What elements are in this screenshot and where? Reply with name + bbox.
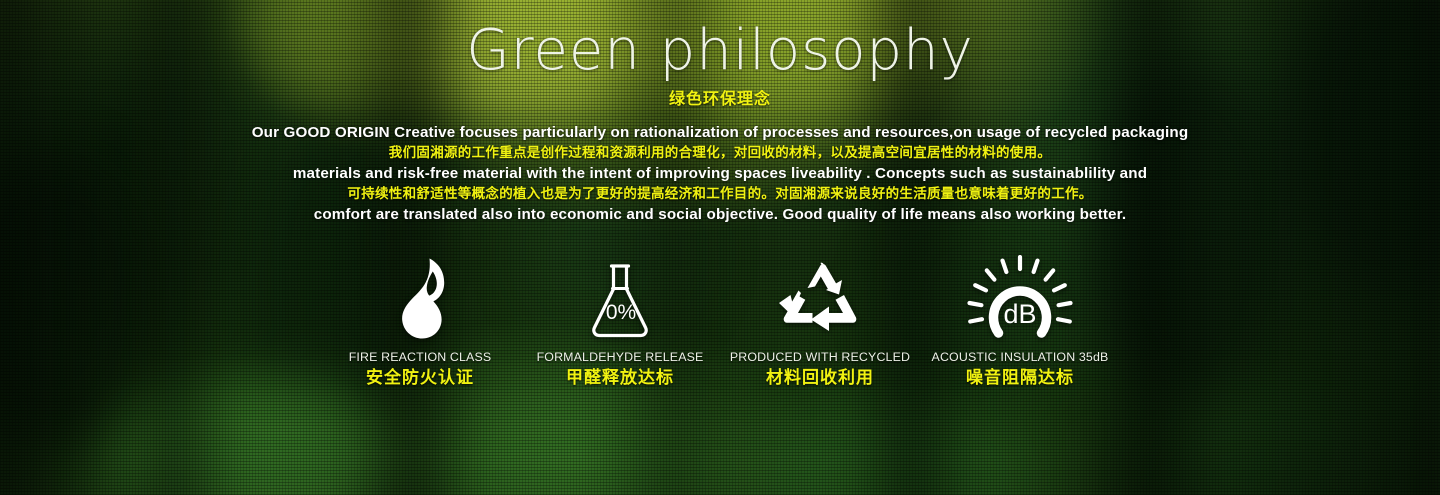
paragraph-line-en-1: Our GOOD ORIGIN Creative focuses particu… [100, 122, 1340, 143]
flask-icon: 0% [582, 255, 658, 341]
green-philosophy-banner: Green philosophy 绿色环保理念 Our GOOD ORIGIN … [0, 0, 1440, 495]
decibel-value-text: dB [1003, 299, 1036, 329]
paragraph-line-cn-2: 可持续性和舒适性等概念的植入也是为了更好的提高经济和工作目的。对固湘源来说良好的… [100, 184, 1340, 204]
feature-fire-reaction: FIRE REACTION CLASS 安全防火认证 [320, 255, 520, 389]
feature-label-cn: 材料回收利用 [766, 367, 874, 389]
paragraph-line-cn-1: 我们固湘源的工作重点是创作过程和资源利用的合理化，对回收的材料，以及提高空间宜居… [100, 143, 1340, 163]
feature-label-cn: 安全防火认证 [366, 367, 474, 389]
page-subtitle: 绿色环保理念 [0, 90, 1440, 110]
decibel-icon: dB [965, 255, 1075, 341]
page-title: Green philosophy [0, 0, 1440, 84]
feature-label-cn: 噪音阻隔达标 [966, 367, 1074, 389]
feature-label-en: FIRE REACTION CLASS [349, 349, 492, 365]
feature-formaldehyde-release: 0% FORMALDEHYDE RELEASE 甲醛释放达标 [520, 255, 720, 389]
feature-label-en: FORMALDEHYDE RELEASE [537, 349, 704, 365]
feature-label-en: PRODUCED WITH RECYCLED [730, 349, 910, 365]
philosophy-paragraph: Our GOOD ORIGIN Creative focuses particu… [100, 122, 1340, 225]
feature-label-cn: 甲醛释放达标 [566, 367, 674, 389]
flame-icon [389, 255, 451, 341]
certification-feature-row: FIRE REACTION CLASS 安全防火认证 0% FORMALDEHY… [0, 255, 1440, 389]
feature-produced-with-recycled: PRODUCED WITH RECYCLED 材料回收利用 [720, 255, 920, 389]
recycle-icon [777, 255, 863, 341]
paragraph-line-en-2: materials and risk-free material with th… [100, 163, 1340, 184]
feature-acoustic-insulation: dB ACOUSTIC INSULATION 35dB 噪音阻隔达标 [920, 255, 1120, 389]
banner-content: Green philosophy 绿色环保理念 Our GOOD ORIGIN … [0, 0, 1440, 495]
paragraph-line-en-3: comfort are translated also into economi… [100, 204, 1340, 225]
flask-value-text: 0% [606, 301, 636, 324]
feature-label-en: ACOUSTIC INSULATION 35dB [932, 349, 1109, 365]
